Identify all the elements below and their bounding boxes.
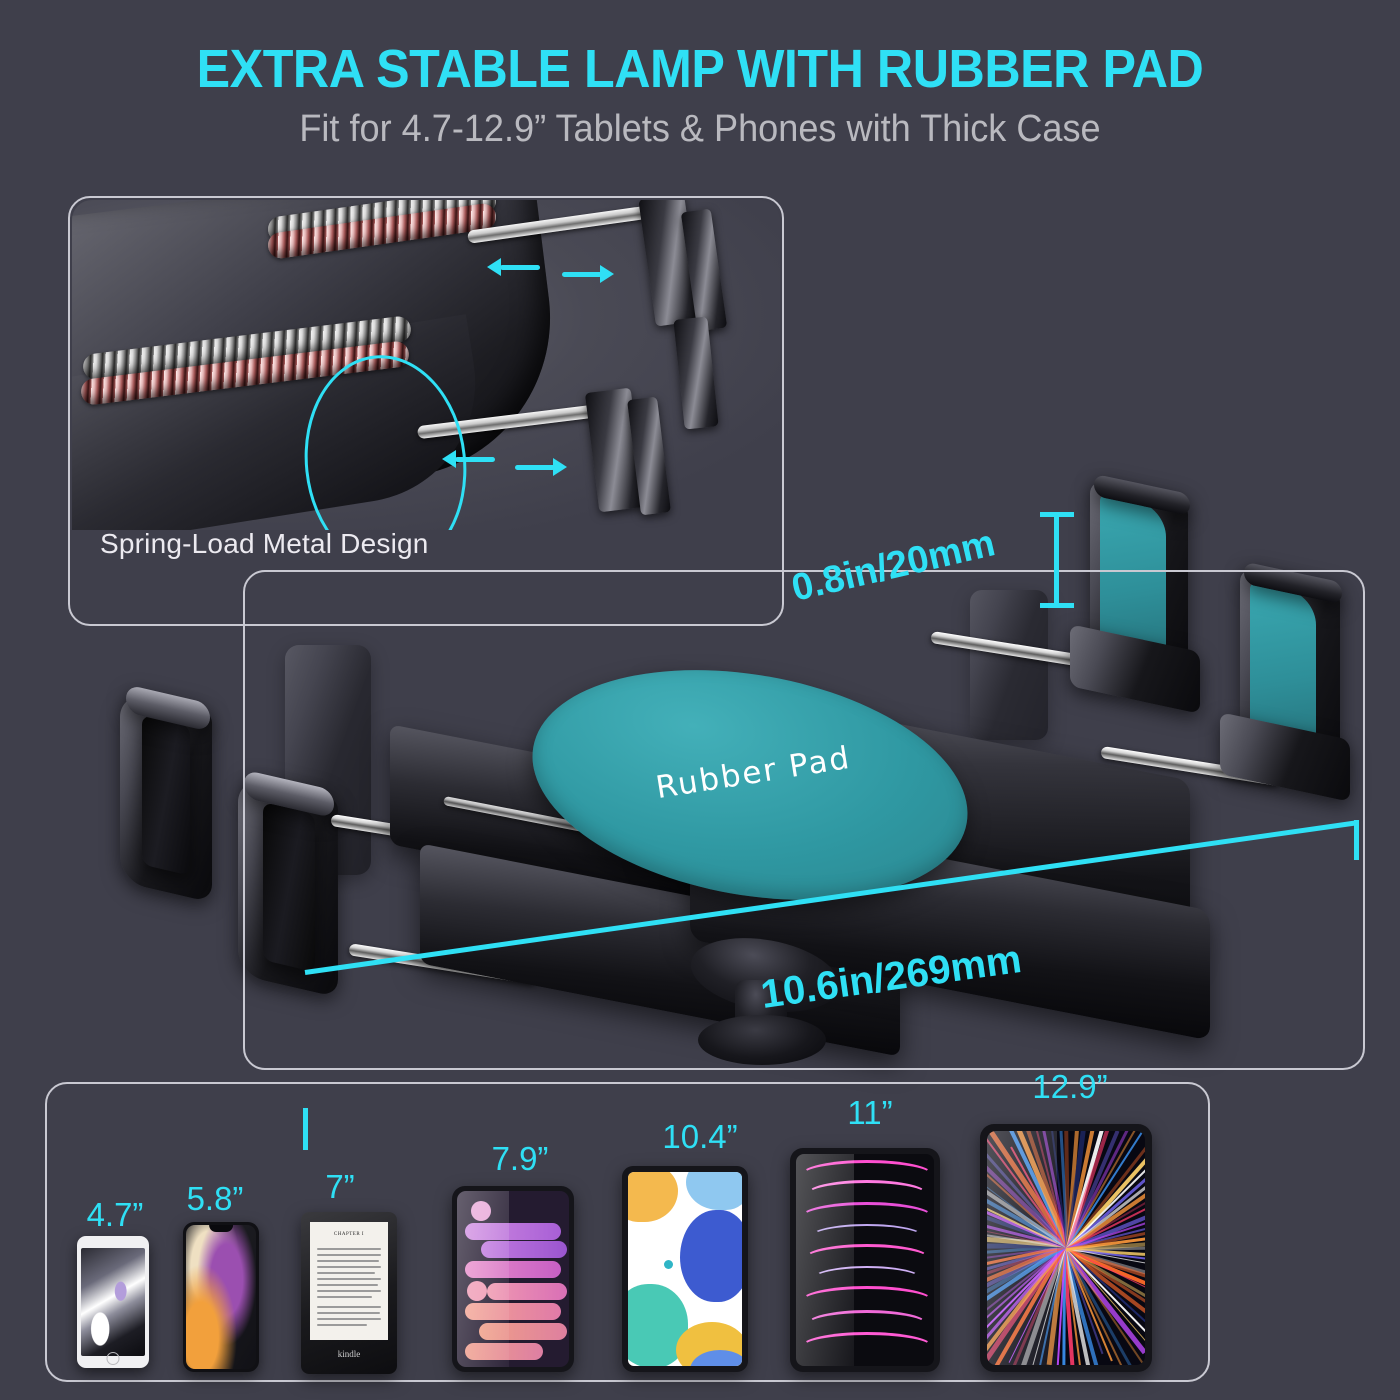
device-label-6: 12.9”: [985, 1068, 1155, 1106]
device-label-3: 7.9”: [455, 1140, 585, 1178]
device-label-4: 10.4”: [630, 1118, 770, 1156]
device-label-0: 4.7”: [60, 1196, 170, 1234]
device-label-1: 5.8”: [160, 1180, 270, 1218]
page-title: EXTRA STABLE LAMP WITH RUBBER PAD: [49, 38, 1351, 100]
device-label-5: 11”: [800, 1094, 940, 1132]
home-button-icon: [107, 1352, 120, 1365]
device-label-2: 7”: [285, 1168, 395, 1206]
kindle-chapter-heading: CHAPTER I: [310, 1232, 388, 1237]
infographic-root: EXTRA STABLE LAMP WITH RUBBER PAD Fit fo…: [0, 0, 1400, 1400]
kindle-logo: kindle: [301, 1349, 397, 1359]
page-subtitle: Fit for 4.7-12.9” Tablets & Phones with …: [35, 108, 1365, 151]
